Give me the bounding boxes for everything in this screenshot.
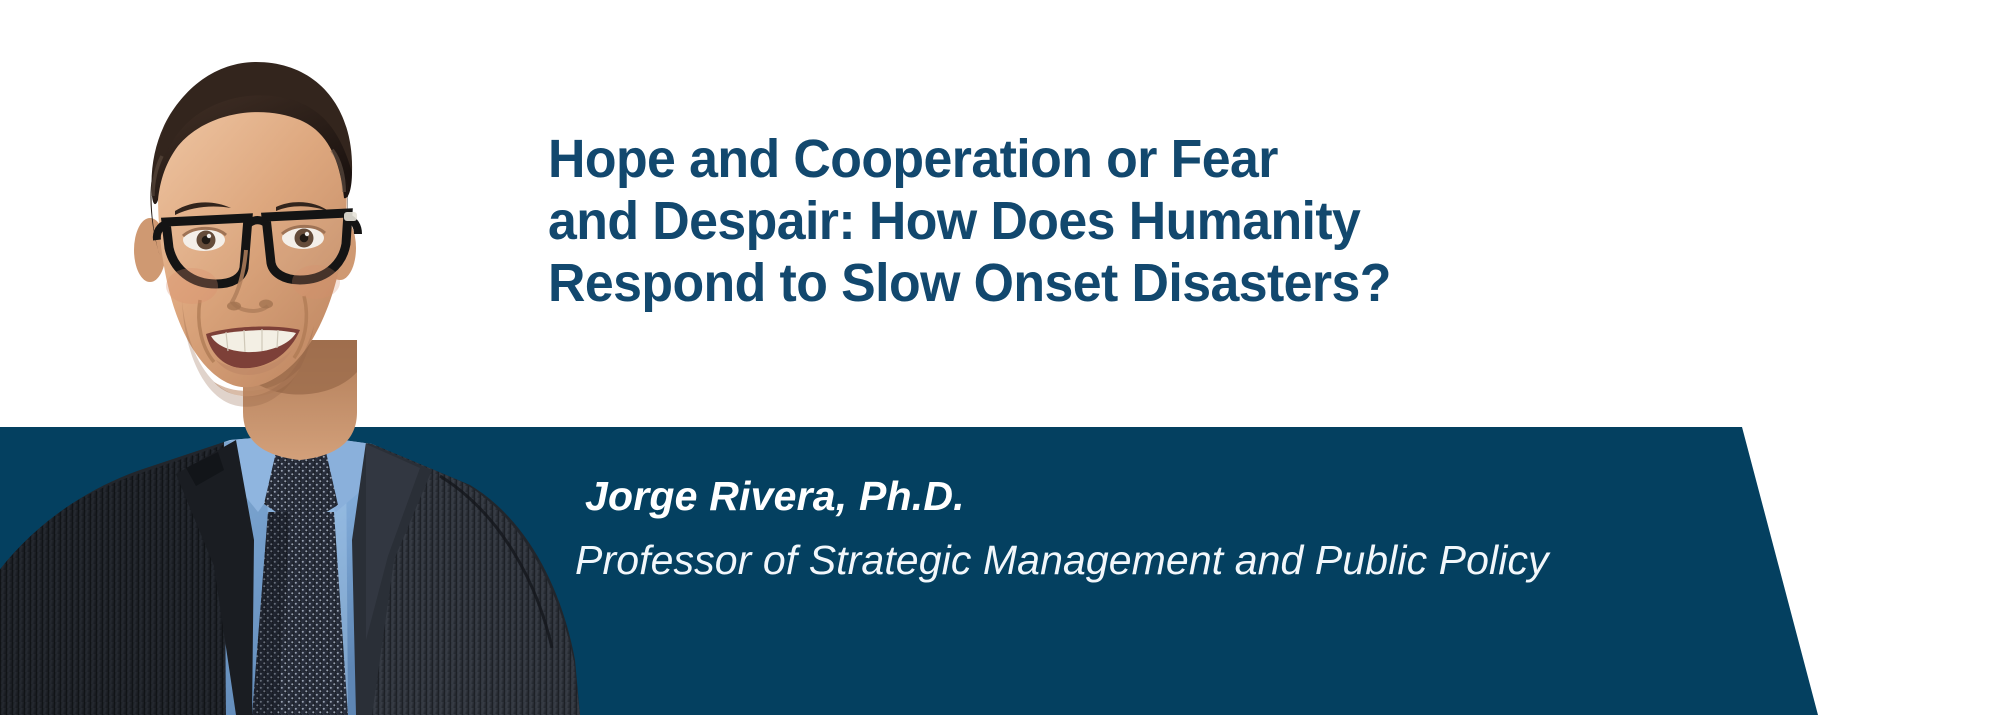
glasses-lens-left bbox=[166, 218, 248, 284]
event-banner: Hope and Cooperation or Fear and Despair… bbox=[0, 0, 2000, 715]
speaker-role: Professor of Strategic Management and Pu… bbox=[575, 532, 1549, 588]
speaker-block: Jorge Rivera, Ph.D. Professor of Strateg… bbox=[585, 470, 1549, 588]
nose bbox=[232, 250, 268, 311]
face bbox=[158, 74, 347, 388]
hair-mass bbox=[154, 62, 352, 192]
shirt-collar-left bbox=[224, 430, 296, 512]
lapel-right bbox=[352, 442, 432, 715]
stubble bbox=[182, 300, 314, 407]
title-block: Hope and Cooperation or Fear and Despair… bbox=[548, 128, 1308, 314]
title-line-2: and Despair: How Does Humanity bbox=[548, 190, 1278, 252]
speaker-portrait bbox=[0, 0, 600, 715]
mouth-smile bbox=[206, 327, 300, 369]
tie-knot bbox=[264, 452, 338, 528]
eyeglasses bbox=[157, 213, 358, 284]
glasses-temple-left bbox=[157, 224, 166, 240]
glasses-temple-right bbox=[348, 218, 358, 234]
glasses-lens-right bbox=[266, 213, 348, 280]
title-line-3: Respond to Slow Onset Disasters? bbox=[548, 252, 1278, 314]
neck bbox=[243, 340, 357, 460]
ear-left bbox=[134, 218, 166, 282]
title-line-1: Hope and Cooperation or Fear bbox=[548, 128, 1278, 190]
glasses-bridge bbox=[248, 220, 266, 224]
pupil-right bbox=[300, 234, 309, 243]
jacket-left-panel bbox=[0, 444, 262, 715]
navy-angled-band bbox=[0, 0, 2000, 715]
dress-shirt bbox=[224, 430, 376, 715]
eyebrow-right bbox=[276, 202, 330, 212]
neck-shadow bbox=[243, 340, 357, 395]
ear-right bbox=[324, 216, 356, 280]
jacket-right-panel bbox=[368, 440, 580, 715]
lapel-left bbox=[176, 440, 254, 715]
lower-lip bbox=[216, 350, 292, 375]
iris-right bbox=[295, 229, 314, 248]
pupil-left bbox=[202, 236, 211, 245]
eye-white-left bbox=[183, 229, 225, 251]
glasses-hinge-highlight bbox=[344, 212, 357, 221]
tie-blade bbox=[252, 512, 348, 715]
eye-white-right bbox=[282, 227, 324, 249]
shirt-collar-right bbox=[304, 430, 376, 512]
hair bbox=[152, 64, 352, 204]
iris-left bbox=[197, 231, 216, 250]
teeth bbox=[211, 330, 296, 352]
eyebrow-left bbox=[175, 202, 231, 215]
speaker-name: Jorge Rivera, Ph.D. bbox=[585, 470, 1549, 522]
suit-body bbox=[0, 420, 600, 715]
